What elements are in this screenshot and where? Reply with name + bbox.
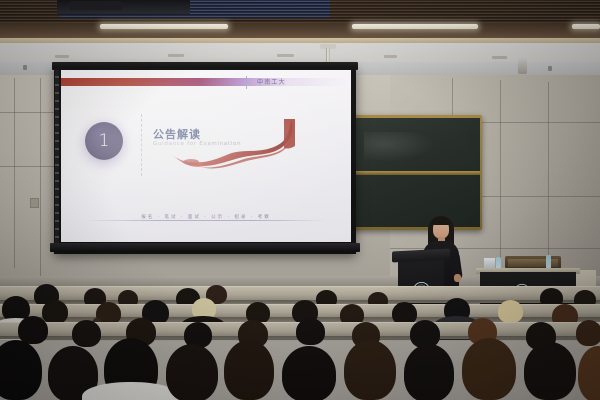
- slide-footer-text: 报名 · 笔试 · 面试 · 公示 · 招录 · 考察: [61, 214, 351, 220]
- ceiling-wood-beam: [0, 23, 600, 39]
- wall-seam: [14, 78, 15, 268]
- ceiling-spotlight: [23, 65, 27, 70]
- screen-chain: [55, 70, 59, 246]
- ceiling-light-strip: [100, 24, 228, 29]
- audience-head-front: [0, 340, 42, 400]
- wall-seam: [0, 166, 56, 167]
- ceiling-vent: [55, 55, 69, 58]
- ceiling-light-strip: [572, 24, 600, 29]
- audience-head-front: [344, 340, 396, 400]
- blackboard-chalk-smudge: [364, 132, 434, 162]
- audience-shoulders-front: [82, 382, 180, 400]
- screen-bottom-bar: [50, 243, 360, 252]
- audience-head: [18, 316, 48, 344]
- audience-head-front: [166, 344, 218, 400]
- wall-seam: [0, 112, 56, 113]
- wall-seam: [40, 78, 41, 283]
- audience-head-front: [578, 346, 600, 400]
- wall-outlet[interactable]: [30, 198, 39, 208]
- slide-dashed-rule: [141, 114, 143, 176]
- audience-head-front: [524, 342, 576, 400]
- slide-section-number: 1: [99, 133, 110, 150]
- ceiling-projector-unit: [70, 1, 122, 10]
- wall-seam: [500, 80, 501, 275]
- ceiling-vent: [384, 55, 397, 58]
- audience-head: [72, 320, 101, 347]
- slide-title-cn: 公告解读: [153, 126, 201, 142]
- lecture-hall-photo: 中南工大 1 公告解读 Guidan: [0, 0, 600, 400]
- audience-head-front: [462, 338, 516, 400]
- slide-section-number-badge: 1: [85, 122, 123, 160]
- ceiling-vent: [168, 54, 184, 57]
- slide-footer-rule: [85, 220, 327, 221]
- audience-head-front: [404, 344, 454, 400]
- ceiling-vent: [492, 56, 507, 59]
- ceiling-light-fixture: [518, 58, 527, 74]
- slide-logo-divider: [246, 76, 247, 89]
- audience-head: [42, 300, 68, 324]
- audience-head-blonde: [498, 300, 523, 323]
- audience-head: [576, 320, 600, 346]
- presentation-slide: 中南工大 1 公告解读 Guidan: [61, 70, 351, 242]
- ceiling-light-strip: [352, 24, 478, 29]
- audience-head-front: [224, 340, 274, 400]
- slide-gradient-banner: [61, 78, 351, 86]
- blackboard-ledge: [350, 171, 480, 175]
- slide-logo-text: 中南工大: [257, 77, 286, 86]
- presenter-hand: [454, 274, 461, 282]
- wall-seam: [548, 82, 549, 274]
- audience-head: [296, 318, 325, 345]
- slide-subtitle-en: Guidance for Examination: [153, 141, 241, 147]
- ceiling-spotlight: [548, 66, 552, 71]
- audience-head-front: [282, 346, 336, 400]
- ceiling-vent: [277, 54, 294, 57]
- presenter-fringe: [432, 217, 450, 225]
